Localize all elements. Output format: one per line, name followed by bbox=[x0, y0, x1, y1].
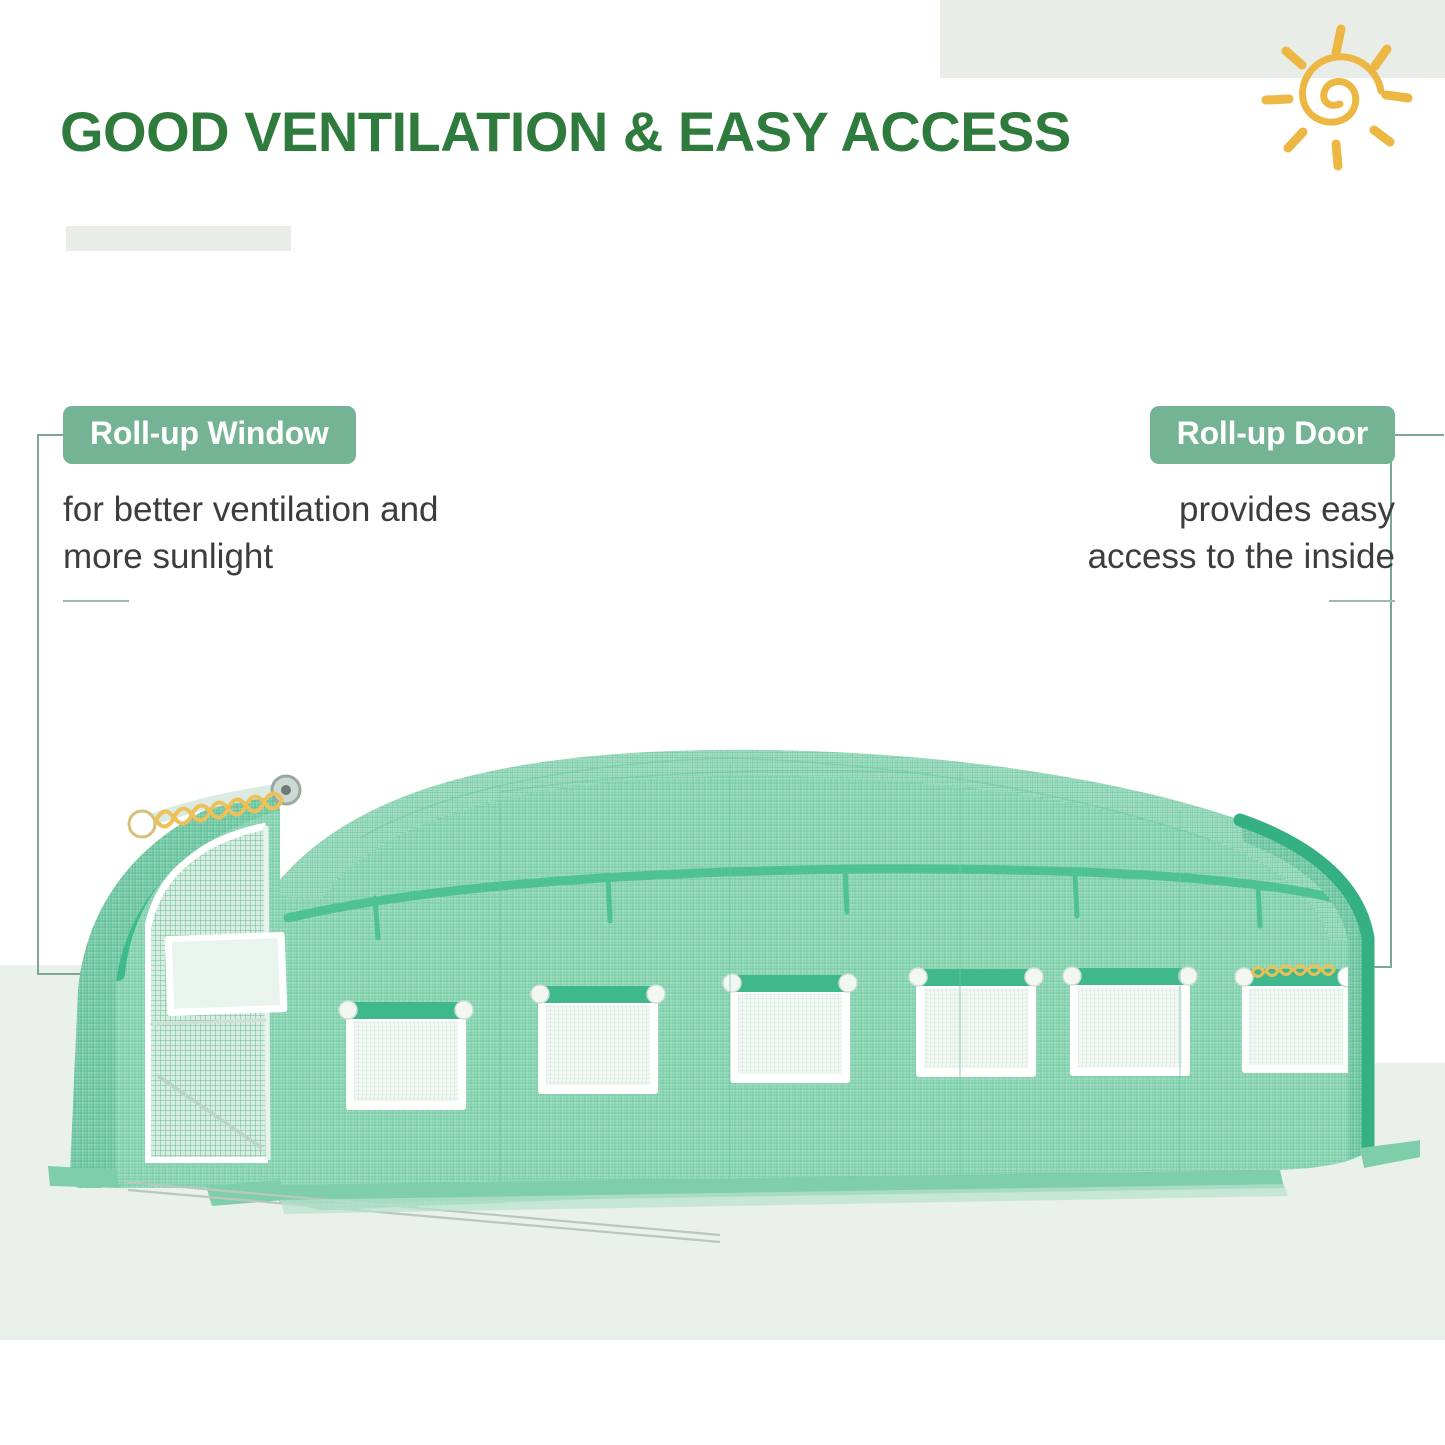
callout-chip-label: Roll-up Window bbox=[63, 406, 356, 464]
greenhouse-illustration bbox=[30, 690, 1420, 1270]
infographic-page: GOOD VENTILATION & EASY ACCESS Roll-up W… bbox=[0, 0, 1445, 1445]
callout-description: for better ventilation and more sunlight bbox=[63, 486, 583, 581]
roll-up-window bbox=[723, 974, 857, 1083]
roll-up-window bbox=[1235, 966, 1358, 1074]
callout-underline bbox=[63, 600, 129, 602]
callout-underline bbox=[1329, 600, 1395, 602]
callout-roll-up-door: Roll-up Door provides easy access to the… bbox=[840, 406, 1395, 602]
roll-up-window bbox=[339, 1001, 473, 1110]
accent-bar-under-title bbox=[66, 226, 291, 251]
roll-up-window bbox=[531, 985, 665, 1094]
sun-icon bbox=[1248, 8, 1418, 178]
connector-right-stub bbox=[1390, 434, 1444, 436]
roll-up-window bbox=[909, 968, 1043, 1077]
page-title: GOOD VENTILATION & EASY ACCESS bbox=[60, 99, 1071, 164]
callout-roll-up-window: Roll-up Window for better ventilation an… bbox=[63, 406, 583, 602]
end-wall-window bbox=[165, 932, 288, 1016]
callout-chip-label: Roll-up Door bbox=[1150, 406, 1395, 464]
callout-description: provides easy access to the inside bbox=[840, 486, 1395, 581]
roll-up-window bbox=[1063, 967, 1197, 1076]
